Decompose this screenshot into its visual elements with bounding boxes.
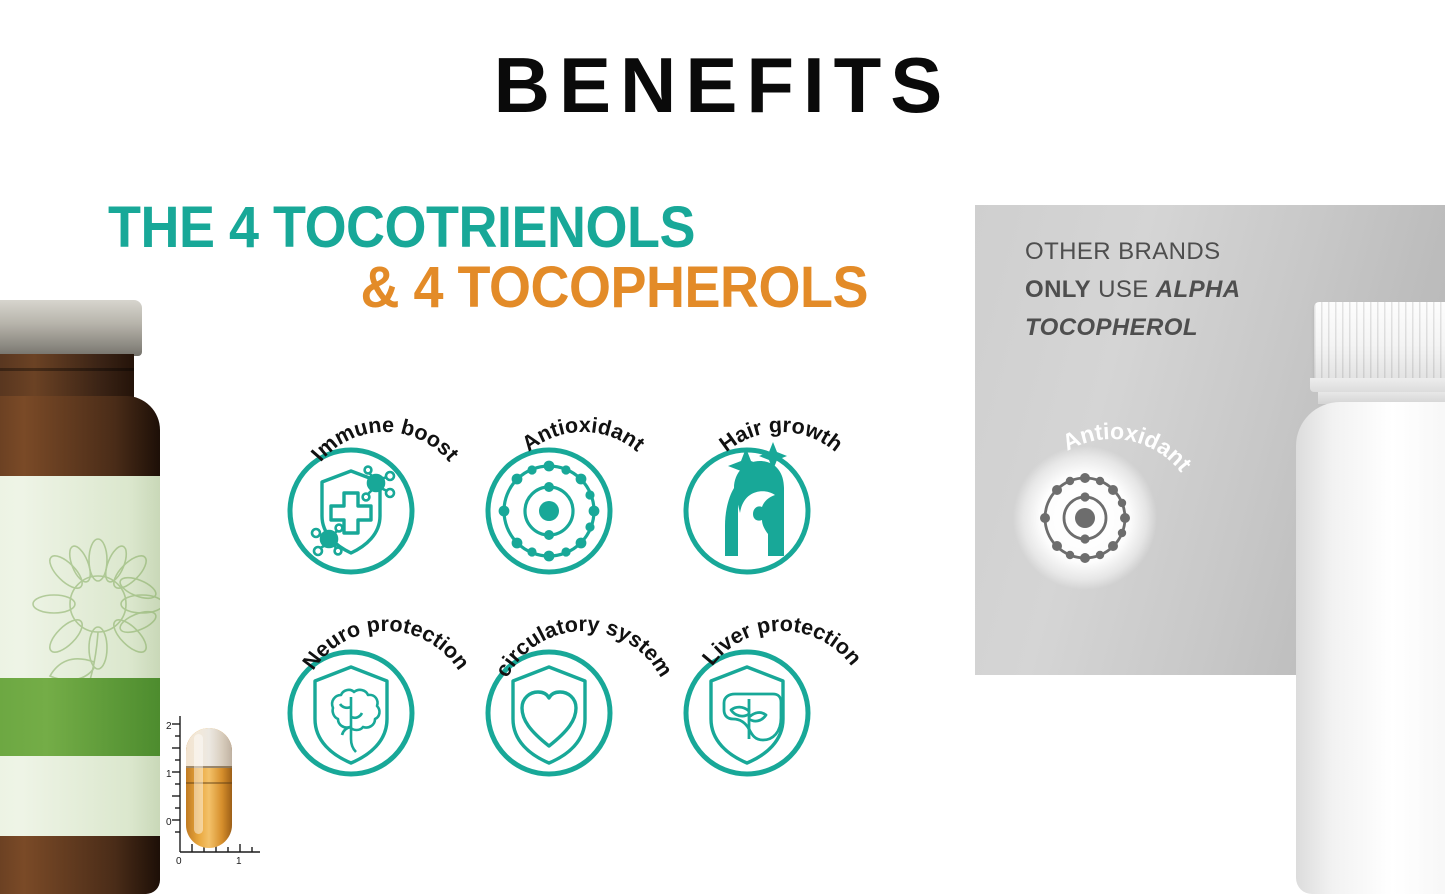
svg-text:Hair growth: Hair growth (715, 413, 847, 457)
benefit-label-1: Antioxidant (517, 413, 649, 456)
label-green-band: TOCOPHEROLS TRIENOLS (0, 678, 160, 756)
bottle-body: LA ALTH IN E-T8 GAN TOCOPHEROLS TRIENOLS… (0, 396, 160, 894)
benefits-icon-grid: Immune boost (280, 400, 890, 850)
svg-text:circulatory system: circulatory system (490, 612, 677, 681)
ruler-tick-0: 0 (166, 817, 172, 828)
svg-text:Antioxidant: Antioxidant (517, 413, 649, 456)
ruler-tick-1: 1 (166, 769, 172, 780)
capsule-icon (186, 728, 232, 848)
capsule-seam-secondary (186, 782, 232, 784)
only-emphasis: ONLY (1025, 276, 1091, 303)
competitor-cap-base (1310, 378, 1445, 392)
capsule-cap-half (186, 728, 232, 768)
band-line2: TRIENOLS (0, 694, 108, 721)
benefit-antioxidant[interactable]: Antioxidant (478, 400, 688, 610)
capsule-with-ruler: 0 1 2 0 1 (152, 706, 264, 874)
competitor-bottle-body (1296, 402, 1445, 894)
benefit-label-2: Hair growth (715, 413, 847, 457)
benefit-label-4: circulatory system (490, 612, 677, 681)
product-name-line2: GAN (0, 638, 152, 672)
headline-block: THE 4 TOCOTRIENOLS & 4 TOCOPHEROLS (108, 198, 868, 317)
ruler-axis-1: 1 (236, 856, 242, 867)
benefit-liver-protection[interactable]: Liver protection (676, 605, 886, 815)
headline-tocotrienols: THE 4 TOCOTRIENOLS (108, 198, 815, 258)
product-bottle: LA ALTH IN E-T8 GAN TOCOPHEROLS TRIENOLS… (0, 300, 160, 894)
benefit-immune-boost[interactable]: Immune boost (280, 400, 490, 610)
label-band-text: TOCOPHEROLS TRIENOLS (0, 686, 160, 713)
page-title: BENEFITS (0, 46, 1445, 124)
competitor-bottle-cap (1314, 302, 1445, 380)
other-brands-antioxidant-badge: Antioxidant (1013, 408, 1263, 618)
product-name-line1: IN E-T8 (0, 604, 152, 638)
bottle-cap (0, 300, 142, 356)
benefit-hair-growth[interactable]: Hair growth (676, 400, 886, 610)
capsule-seam (186, 766, 232, 768)
benefit-neuro-protection[interactable]: Neuro protection (280, 605, 490, 815)
ruler-tick-2: 2 (166, 721, 172, 732)
product-name: IN E-T8 GAN (0, 604, 152, 672)
use-word: USE (1098, 276, 1149, 303)
other-brands-line1: OTHER BRANDS (1025, 233, 1375, 271)
benefit-circulatory-system[interactable]: circulatory system (478, 605, 688, 815)
headline-tocopherols: & 4 TOCOPHEROLS (161, 258, 868, 318)
infographic-canvas: BENEFITS THE 4 TOCOTRIENOLS & 4 TOCOPHER… (0, 0, 1445, 894)
capsule-highlight (194, 734, 203, 834)
competitor-bottle (1296, 302, 1445, 894)
ruler-axis-0: 0 (176, 856, 182, 867)
bottle-label: LA ALTH IN E-T8 GAN TOCOPHEROLS TRIENOLS… (0, 476, 160, 836)
alpha-emphasis: ALPHA (1156, 276, 1241, 303)
